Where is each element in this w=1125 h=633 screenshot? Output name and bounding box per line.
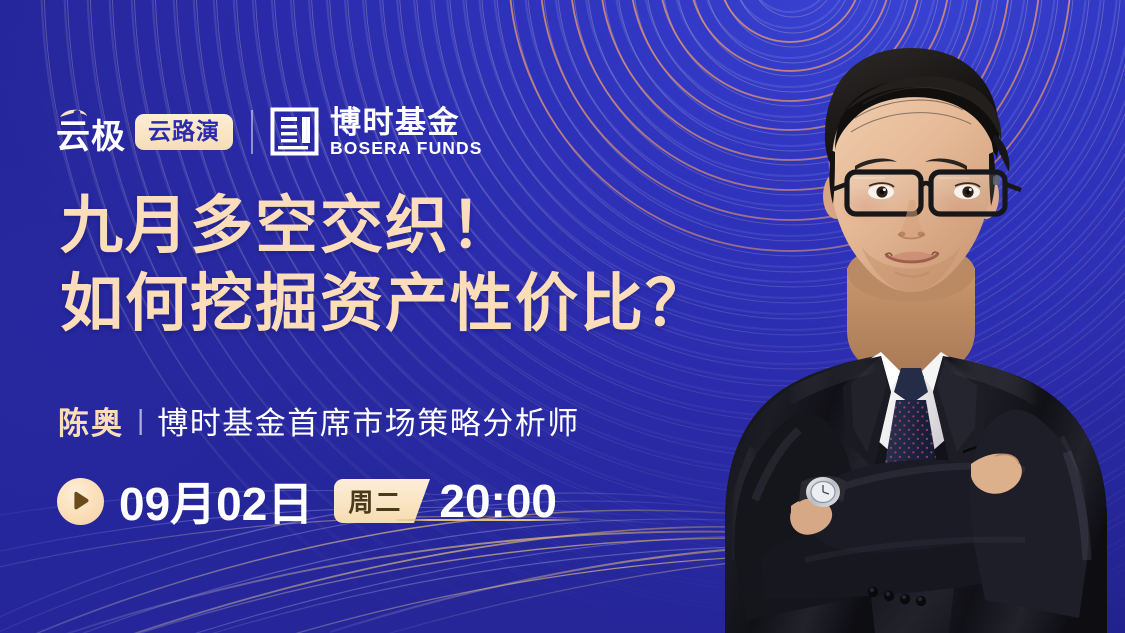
weekday-label: 周二 [334, 483, 421, 519]
bosera-wordmark: 博时基金 BOSERA FUNDS [330, 107, 483, 157]
weekday-badge: 周二 [334, 479, 421, 523]
schedule-row: 09月02日 周二 20:00 [57, 468, 557, 534]
play-triangle-icon [71, 491, 90, 511]
bosera-square-emblem-icon [270, 107, 319, 156]
speaker-separator: | [137, 404, 144, 436]
yunji-label: 云极 [56, 120, 126, 154]
logo-divider [251, 110, 253, 154]
page-title: 九月多空交织！ 如何挖掘资产性价比？ [60, 187, 760, 343]
headline-line-2: 如何挖掘资产性价比？ [60, 265, 760, 343]
speaker-name: 陈奥 [58, 398, 124, 443]
bosera-name-en: BOSERA FUNDS [330, 140, 483, 158]
schedule-underline-decoration [396, 519, 580, 521]
speaker-info: 陈奥 | 博时基金首席市场策略分析师 [58, 398, 580, 443]
speaker-title: 博时基金首席市场策略分析师 [157, 398, 580, 443]
yunluyan-badge[interactable]: 云路演 [135, 114, 233, 150]
logo-row: 云极 云路演 博时基金 BOSERA FUNDS [56, 101, 483, 163]
schedule-date: 09月02日 [119, 468, 313, 534]
play-circle-icon[interactable] [57, 478, 104, 525]
bosera-name-cn: 博时基金 [330, 107, 483, 139]
cloud-swoosh-icon [58, 108, 88, 121]
webinar-promo-banner: 云极 云路演 博时基金 BOSERA FUNDS [0, 0, 1125, 633]
yunji-wordmark: 云极 [56, 110, 126, 154]
headline-line-1: 九月多空交织！ [60, 187, 760, 265]
bosera-brand-logo[interactable]: 博时基金 BOSERA FUNDS [270, 107, 483, 157]
yunji-brand-logo[interactable]: 云极 云路演 [56, 101, 233, 163]
